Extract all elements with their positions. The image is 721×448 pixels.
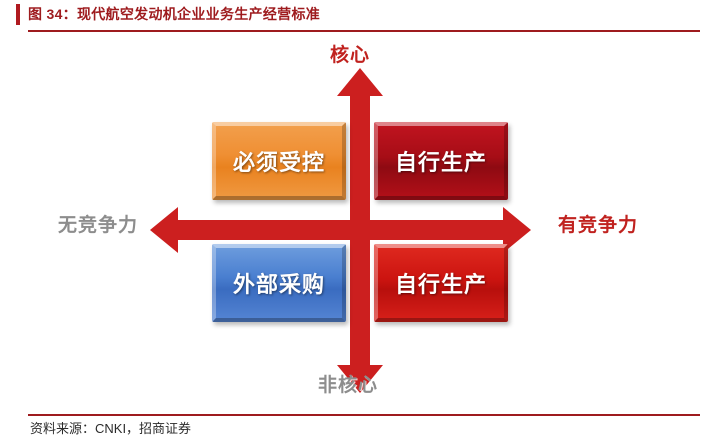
axis-label-top: 核心 [330, 40, 370, 67]
title-accent-bar [16, 4, 20, 25]
axis-label-right: 有竞争力 [558, 210, 638, 237]
page-title: 图 34：现代航空发动机企业业务生产经营标准 [28, 4, 320, 24]
figure-page: 图 34：现代航空发动机企业业务生产经营标准 核心 非核心 无竞争力 有竞争力 … [0, 0, 721, 448]
quadrant-label-top-left: 必须受控 [233, 145, 325, 177]
quadrant-label-bottom-right: 自行生产 [395, 267, 487, 299]
axis-label-left: 无竞争力 [58, 210, 138, 237]
quadrant-label-top-right: 自行生产 [395, 145, 487, 177]
quadrant-box-bottom-left: 外部采购 [212, 244, 346, 322]
footer-divider [28, 414, 700, 416]
arrow-left-icon [150, 207, 178, 253]
figure-title-bar: 图 34：现代航空发动机企业业务生产经营标准 [0, 0, 721, 32]
quadrant-label-bottom-left: 外部采购 [233, 267, 325, 299]
quadrant-box-top-right: 自行生产 [374, 122, 508, 200]
quadrant-diagram: 核心 非核心 无竞争力 有竞争力 必须受控 自行生产 外部采购 自行生产 [0, 32, 721, 406]
horizontal-axis-shaft [175, 220, 505, 240]
source-note: 资料来源：CNKI，招商证券 [30, 420, 191, 438]
arrow-up-icon [337, 68, 383, 96]
quadrant-box-bottom-right: 自行生产 [374, 244, 508, 322]
quadrant-box-top-left: 必须受控 [212, 122, 346, 200]
axis-label-bottom: 非核心 [318, 370, 378, 397]
